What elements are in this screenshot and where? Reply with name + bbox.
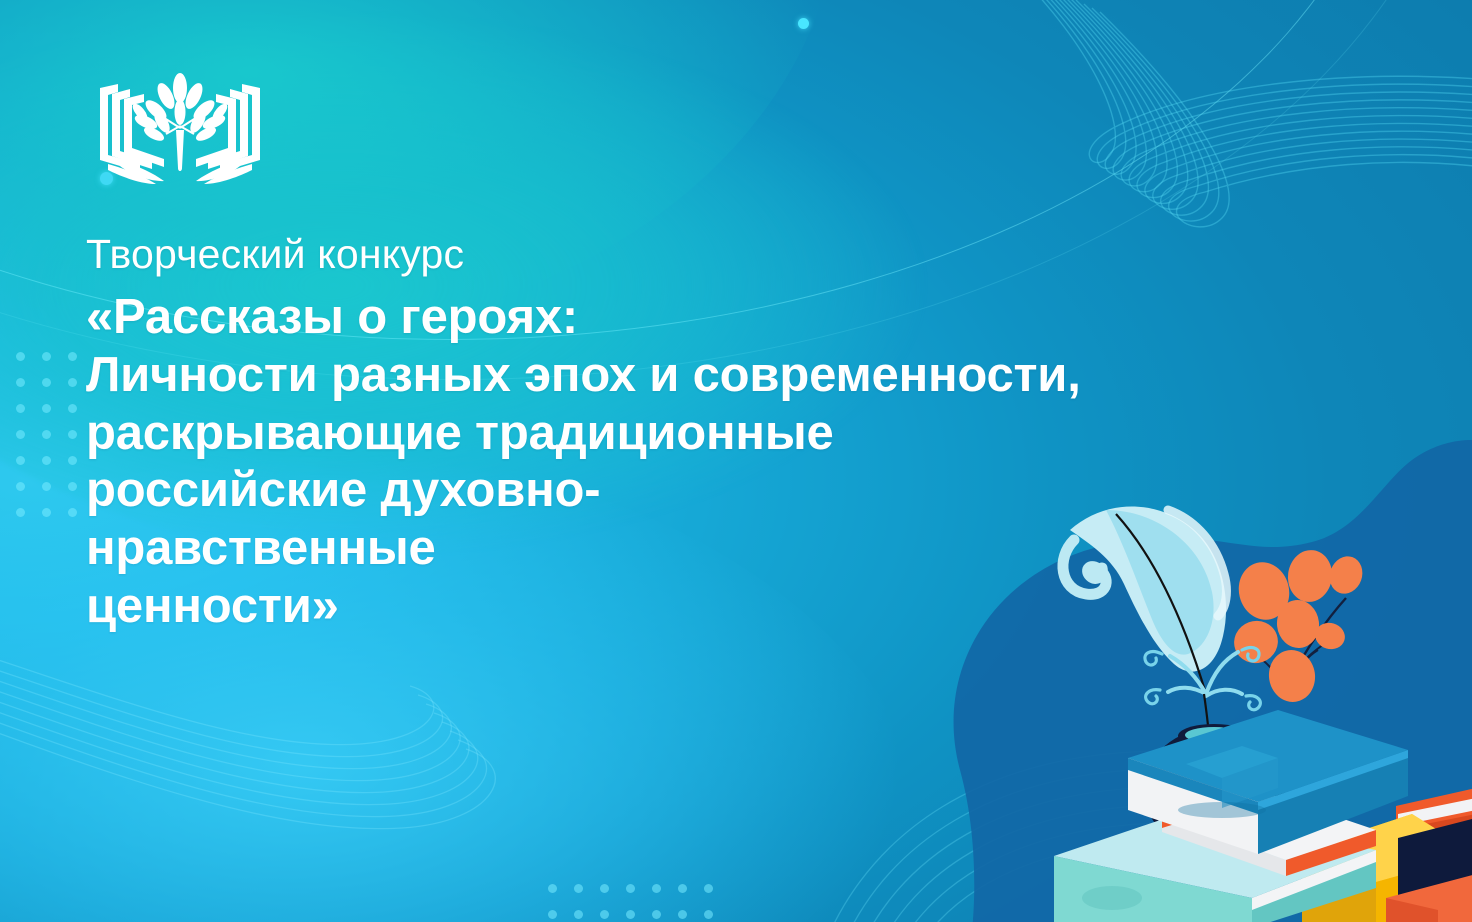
- books-quill-vase-illustration: [1046, 458, 1472, 922]
- poster-canvas: Творческий конкурс «Рассказы о героях: Л…: [0, 0, 1472, 922]
- line-swirl-bottom-left: [0, 632, 560, 922]
- headline-line-1: «Рассказы о героях:: [86, 289, 1246, 347]
- dot-grid-bottom: [548, 884, 748, 922]
- headline-line-2: Личности разных эпох и современности,: [86, 347, 1246, 405]
- arc-dot-icon: [798, 18, 809, 29]
- open-book-with-tree-icon: [96, 72, 264, 190]
- headline-line-3: раскрывающие традиционные: [86, 405, 1246, 463]
- orange-plant-icon: [1228, 547, 1367, 705]
- quill-feather-icon: [1063, 507, 1260, 737]
- eyebrow-label: Творческий конкурс: [86, 234, 1246, 275]
